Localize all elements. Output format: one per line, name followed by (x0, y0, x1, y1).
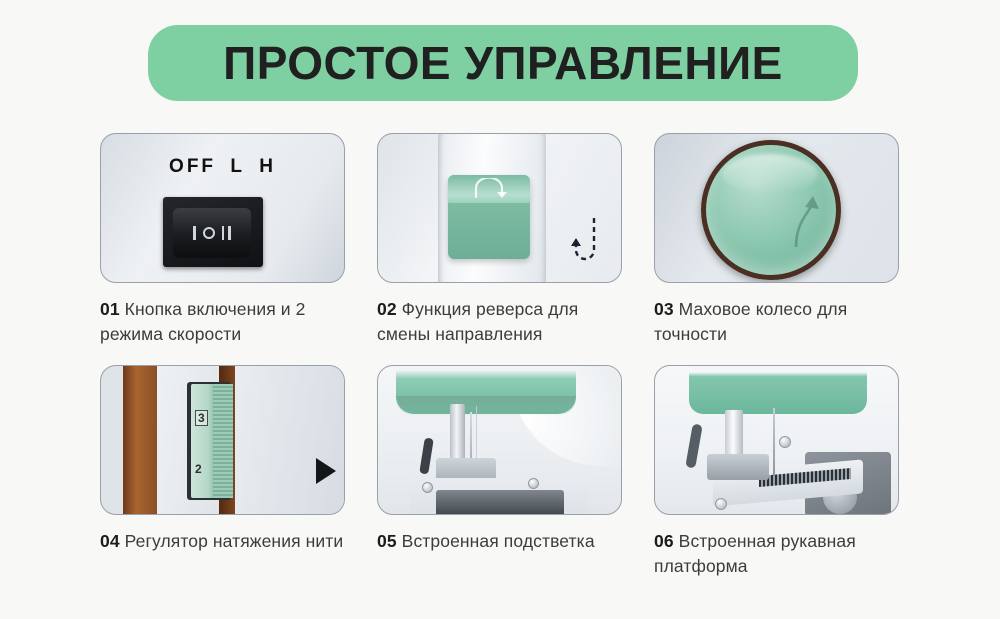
handwheel (701, 140, 841, 280)
feature-number-06: 06 (654, 531, 674, 551)
page-title: ПРОСТОЕ УПРАВЛЕНИЕ (223, 36, 783, 90)
feature-card-04: 3 2 04Регулятор натяжения нити (100, 365, 345, 579)
label-high: H (259, 156, 276, 177)
feature-text-03: Маховое колесо для точности (654, 299, 847, 344)
dial-ridges (213, 384, 233, 498)
feature-number-04: 04 (100, 531, 120, 551)
marking-o-icon (203, 227, 215, 239)
caption-04: 04Регулятор натяжения нити (100, 529, 345, 554)
label-off: OFF (169, 156, 216, 177)
feature-text-04: Регулятор натяжения нити (125, 531, 344, 551)
plate-screw-right (528, 478, 539, 489)
photo-power-switch: OFF L H (100, 133, 345, 283)
feature-text-01: Кнопка включения и 2 режима скорости (100, 299, 305, 344)
feature-number-02: 02 (377, 299, 397, 319)
photo-reverse-lever (377, 133, 622, 283)
needle (773, 408, 775, 476)
feature-card-02: 02Функция реверса для смены направления (377, 133, 622, 347)
caption-06: 06Встроенная рукавная платформа (654, 529, 899, 579)
feature-number-03: 03 (654, 299, 674, 319)
caption-03: 03Маховое колесо для точности (654, 297, 899, 347)
presser-foot (707, 454, 769, 480)
needle-bar (450, 404, 465, 466)
dial-number-3: 3 (195, 410, 208, 426)
presser-foot-lever (685, 423, 702, 468)
page-title-banner: ПРОСТОЕ УПРАВЛЕНИЕ (148, 25, 858, 101)
feature-card-05: 05Встроенная подстветка (377, 365, 622, 579)
features-grid: OFF L H 01Кнопка включения и 2 режима ск… (100, 133, 900, 579)
rotation-arrow-icon (790, 193, 826, 253)
dial-number-2: 2 (195, 462, 202, 476)
tension-dial: 3 2 (191, 384, 233, 498)
feature-card-03: 03Маховое колесо для точности (654, 133, 899, 347)
caption-01: 01Кнопка включения и 2 режима скорости (100, 297, 345, 347)
machine-body (689, 365, 867, 414)
u-turn-arrow-icon (472, 178, 512, 202)
feature-text-02: Функция реверса для смены направления (377, 299, 578, 344)
feature-grid-page: ПРОСТОЕ УПРАВЛЕНИЕ OFF L H (0, 0, 1000, 619)
rocker-switch (173, 208, 251, 258)
marking-ii-icon-a (222, 226, 225, 240)
head-shadow (396, 396, 576, 416)
arm-screw-top (779, 436, 791, 448)
switch-bezel (163, 197, 263, 267)
reverse-stitch-hook-icon (568, 214, 604, 270)
presser-foot-lever (419, 438, 434, 475)
photo-free-arm (654, 365, 899, 515)
metal-plate (436, 490, 564, 515)
dial-panel-right (235, 366, 344, 515)
feature-card-01: OFF L H 01Кнопка включения и 2 режима ск… (100, 133, 345, 347)
caption-02: 02Функция реверса для смены направления (377, 297, 622, 347)
feature-text-06: Встроенная рукавная платформа (654, 531, 856, 576)
reverse-lever-button (448, 175, 530, 259)
marking-i-icon (193, 226, 196, 240)
wheel-gloss (722, 154, 818, 194)
photo-handwheel (654, 133, 899, 283)
photo-tension-dial: 3 2 (100, 365, 345, 515)
triangle-pointer-icon (316, 458, 336, 484)
feature-number-05: 05 (377, 531, 397, 551)
arm-screw-bottom (715, 498, 727, 510)
photo-needle-light (377, 365, 622, 515)
plate-screw-left (422, 482, 433, 493)
marking-ii-icon-b (228, 226, 231, 240)
wood-background-left (123, 366, 157, 515)
feature-number-01: 01 (100, 299, 120, 319)
caption-05: 05Встроенная подстветка (377, 529, 622, 554)
label-low: L (230, 156, 245, 177)
feature-card-06: 06Встроенная рукавная платформа (654, 365, 899, 579)
switch-position-labels: OFF L H (101, 156, 344, 178)
feature-text-05: Встроенная подстветка (402, 531, 595, 551)
